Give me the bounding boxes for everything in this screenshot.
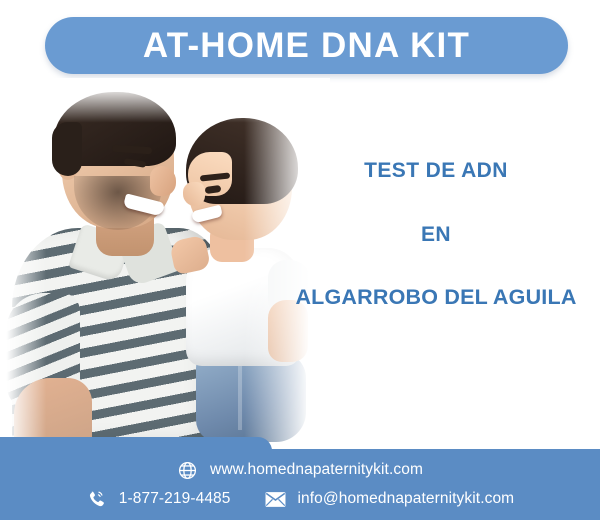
headline-block: TEST DE ADN EN ALGARROBO DEL AGUILA (280, 160, 592, 309)
footer-contact-rows: www.homednapaternitykit.com 1-877-219-44… (0, 449, 600, 520)
header-title: AT-HOME DNA KIT (143, 28, 470, 63)
child-nose (183, 182, 205, 206)
website-item[interactable]: www.homednapaternitykit.com (177, 460, 423, 481)
email-item[interactable]: info@homednapaternitykit.com (265, 489, 515, 510)
headline-spacer-2 (280, 245, 592, 287)
promo-graphic: AT-HOME DNA KIT (0, 0, 600, 520)
website-label: www.homednapaternitykit.com (210, 461, 423, 479)
header-banner: AT-HOME DNA KIT (45, 17, 568, 74)
headline-spacer-1 (280, 181, 592, 224)
father-nose (150, 166, 176, 196)
child-arm (268, 300, 308, 362)
phone-item[interactable]: 1-877-219-4485 (86, 489, 231, 510)
envelope-icon (265, 489, 286, 510)
footer-row-contact: 1-877-219-4485 info@homednapaternitykit.… (86, 489, 514, 510)
headline-city: ALGARROBO DEL AGUILA (280, 287, 592, 309)
phone-icon (86, 489, 107, 510)
footer-row-website: www.homednapaternitykit.com (177, 460, 423, 481)
email-label: info@homednapaternitykit.com (298, 490, 515, 508)
phone-label: 1-877-219-4485 (119, 490, 231, 508)
headline-line-1: TEST DE ADN (280, 160, 592, 181)
father-sideburn (52, 122, 82, 176)
globe-icon (177, 460, 198, 481)
headline-line-2: EN (280, 224, 592, 245)
